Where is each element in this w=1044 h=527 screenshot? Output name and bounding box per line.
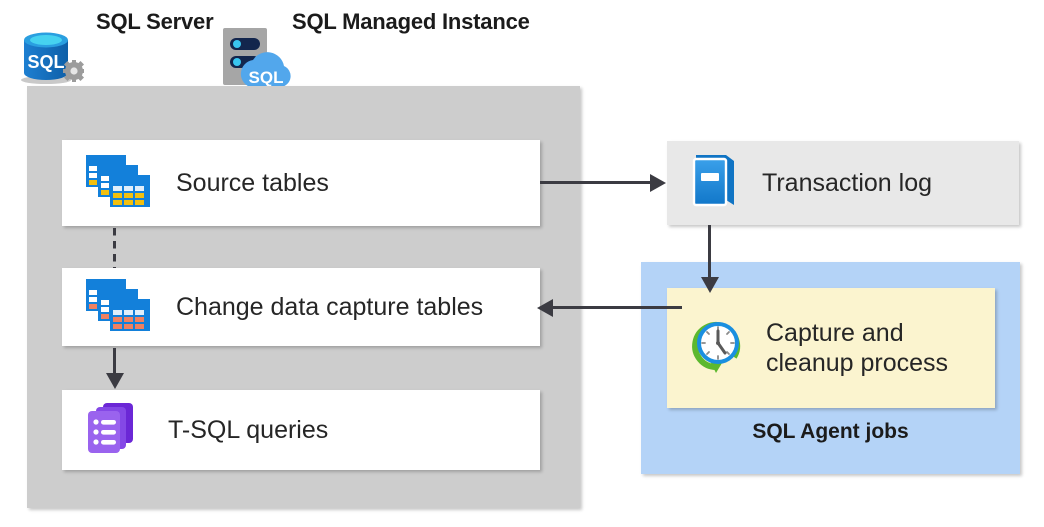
query-list-icon <box>85 401 143 460</box>
node-cdc-tables[interactable]: Change data capture tables <box>62 268 540 346</box>
node-tsql-queries[interactable]: T-SQL queries <box>62 390 540 470</box>
sql-managed-instance-icon: SQL <box>220 25 292 89</box>
node-tsql-queries-label: T-SQL queries <box>168 415 328 445</box>
clock-refresh-icon <box>690 319 744 378</box>
sql-agent-jobs-label: SQL Agent jobs <box>641 420 1020 444</box>
sql-server-title: SQL Server <box>96 8 213 35</box>
svg-text:SQL: SQL <box>27 52 64 72</box>
node-cdc-tables-label: Change data capture tables <box>176 292 483 322</box>
tables-icon-salmon <box>85 278 151 337</box>
svg-text:SQL: SQL <box>249 68 284 87</box>
book-log-icon <box>688 153 740 214</box>
node-transaction-log[interactable]: Transaction log <box>667 141 1019 225</box>
diagram-canvas: SQL SQL Server <box>0 0 1044 527</box>
sql-server-icon: SQL <box>18 24 84 86</box>
node-capture-cleanup-process-label: Capture and cleanup process <box>766 318 948 378</box>
node-transaction-log-label: Transaction log <box>762 168 932 198</box>
node-capture-cleanup-process[interactable]: Capture and cleanup process <box>667 288 995 408</box>
node-source-tables-label: Source tables <box>176 168 329 198</box>
node-source-tables[interactable]: Source tables <box>62 140 540 226</box>
sql-managed-instance-title: SQL Managed Instance <box>292 8 530 35</box>
tables-icon-yellow <box>85 154 151 213</box>
